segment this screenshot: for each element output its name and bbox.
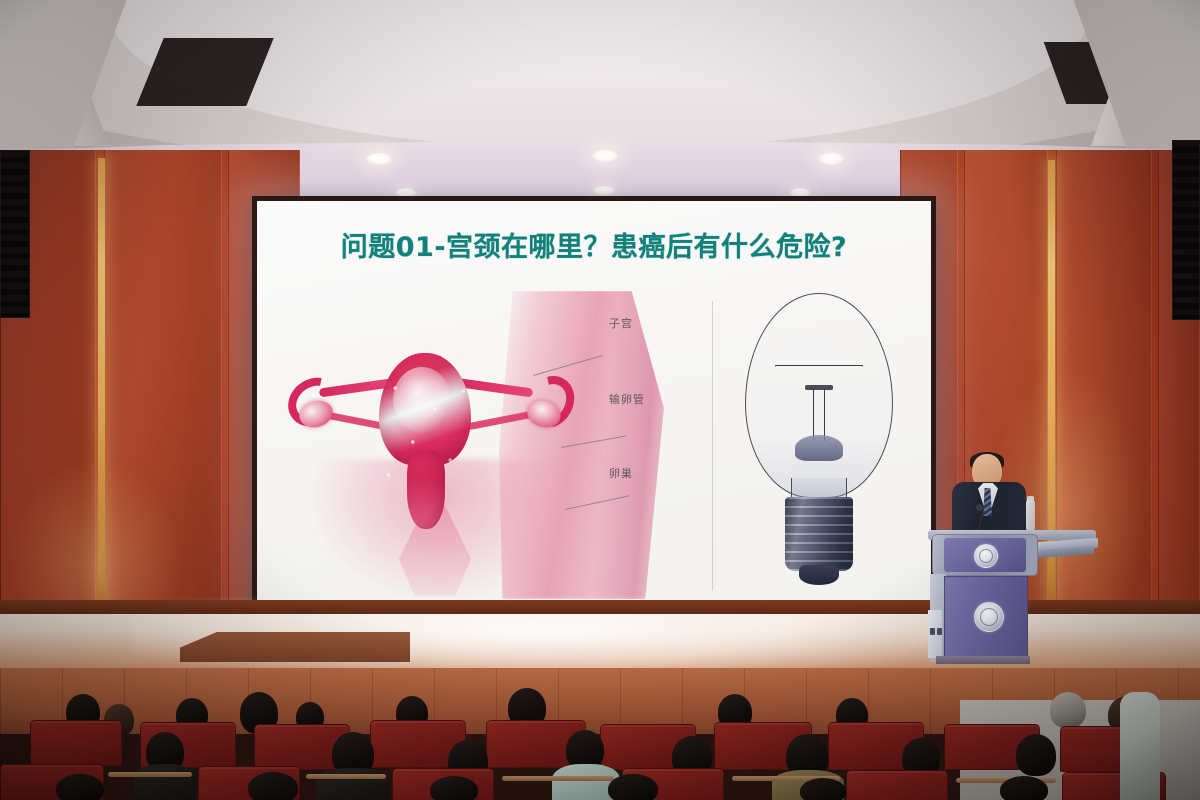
loudspeaker-right: [1172, 140, 1200, 320]
slide-body: 子宫 输卵管 卵巢: [257, 279, 931, 603]
microphone-icon: [976, 504, 983, 511]
standing-attendee: [1120, 692, 1160, 800]
projection-screen-frame: 问题01-宫颈在哪里？患癌后有什么危险?: [252, 196, 936, 608]
audience-head: [248, 772, 298, 800]
audience-head: [800, 778, 846, 800]
label-uterus: 子宫: [609, 315, 633, 331]
auditorium-scene: 问题01-宫颈在哪里？患癌后有什么危险?: [0, 0, 1200, 800]
downlight-icon: [366, 153, 392, 165]
audience-seat: [30, 720, 122, 766]
cervix: [407, 451, 445, 529]
lectern-control-knob: [930, 628, 935, 635]
label-fallopian-tube: 输卵管: [609, 391, 645, 407]
downlight-icon: [818, 153, 844, 165]
seat-armrest: [306, 774, 386, 779]
audience-head: [430, 776, 478, 800]
light-bulb-figure: [729, 293, 907, 593]
slide-title: 问题01-宫颈在哪里？患癌后有什么危险?: [257, 225, 931, 264]
audience-shoulders: [134, 764, 196, 800]
audience-area: [0, 688, 1200, 800]
podium-and-speaker: [928, 452, 1096, 664]
lectern-base: [936, 656, 1030, 664]
bulb-contact-tip: [799, 565, 839, 585]
bulb-filament-stem: [813, 389, 825, 441]
institution-emblem-icon: [974, 544, 998, 568]
uterus-highlight: [393, 367, 451, 433]
seat-armrest: [108, 772, 192, 777]
loudspeaker-left: [0, 150, 30, 318]
audience-head: [1016, 734, 1056, 776]
label-ovary: 卵巢: [609, 465, 633, 481]
audience-head: [1050, 692, 1086, 728]
slide-divider: [712, 301, 713, 591]
projection-screen: 问题01-宫颈在哪里？患癌后有什么危险?: [257, 201, 931, 603]
audience-head: [608, 774, 658, 800]
stage-step: [180, 632, 410, 662]
water-bottle: [1026, 500, 1035, 530]
audience-seat: [846, 770, 948, 800]
bulb-screw-base: [785, 497, 853, 571]
audience-head: [1000, 776, 1048, 800]
audience-shoulders: [316, 768, 390, 800]
downlight-icon: [594, 186, 614, 195]
audience-head: [56, 774, 104, 800]
seat-armrest: [502, 776, 614, 781]
downlight-icon: [592, 150, 618, 162]
institution-emblem-icon: [974, 602, 1004, 632]
bulb-stem-press: [795, 435, 843, 461]
lectern-control-knob: [937, 628, 942, 635]
anatomy-figure: [275, 291, 705, 599]
